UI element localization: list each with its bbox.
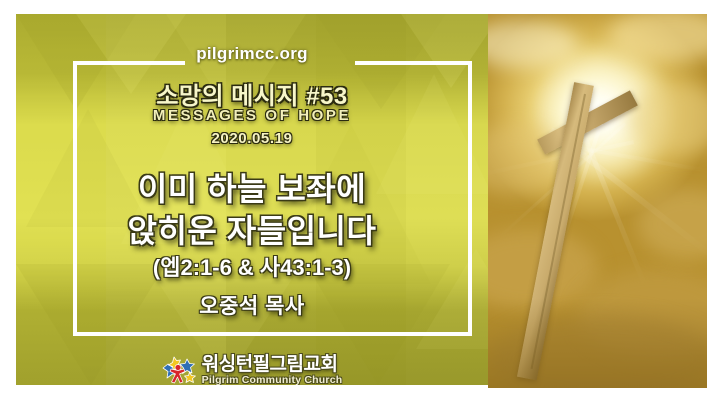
- church-logo: 워싱턴필그림교회 Pilgrim Community Church: [16, 350, 488, 385]
- sermon-date: 2020.05.19: [16, 130, 488, 147]
- church-name-korean: 워싱턴필그림교회: [202, 355, 338, 374]
- photo-bottom-haze: [488, 298, 707, 388]
- slide-canvas: pilgrimcc.org 소망의 메시지 #53 MESSAGES OF HO…: [0, 0, 720, 405]
- cloud: [638, 189, 707, 259]
- scripture-reference: (엡2:1-6 & 사43:1-3): [16, 250, 488, 282]
- speaker-name: 오중석 목사: [16, 290, 488, 320]
- website-url[interactable]: pilgrimcc.org: [16, 44, 488, 64]
- series-title-korean: 소망의 메시지 #53: [16, 76, 488, 111]
- logo-text-block: 워싱턴필그림교회 Pilgrim Community Church: [202, 355, 343, 385]
- title-panel: pilgrimcc.org 소망의 메시지 #53 MESSAGES OF HO…: [16, 14, 488, 385]
- series-title-english: MESSAGES OF HOPE: [16, 107, 488, 124]
- cross-photo: [488, 14, 707, 388]
- sermon-title-line-2: 앉히운 자들입니다: [16, 206, 488, 252]
- frame-bottom-edge: [73, 332, 472, 336]
- sermon-title-line-1: 이미 하늘 보좌에: [16, 164, 488, 210]
- star-cluster-with-person-icon: [162, 354, 196, 385]
- church-name-english: Pilgrim Community Church: [202, 375, 343, 385]
